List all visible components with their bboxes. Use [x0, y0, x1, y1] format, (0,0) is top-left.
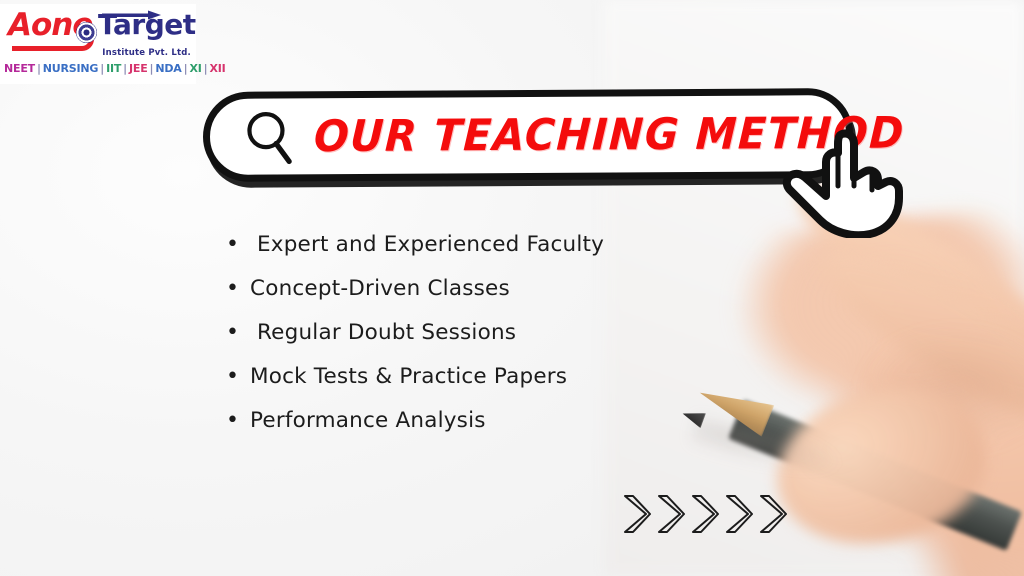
target-bullseye-icon: [76, 22, 97, 43]
photo-finger-middle: [802, 225, 1024, 453]
logo-course-neet: NEET: [4, 62, 35, 75]
list-item: •Regular Doubt Sessions: [226, 320, 696, 346]
logo-course-nursing: NURSING: [43, 62, 98, 75]
bullet-marker-icon: •: [226, 276, 250, 302]
logo-course-separator: |: [98, 62, 106, 75]
logo-course-nda: NDA: [155, 62, 181, 75]
pointing-hand-cursor-icon[interactable]: [782, 128, 910, 238]
chevron-right-icon: [722, 492, 754, 536]
bullet-marker-icon: •: [226, 320, 250, 346]
photo-pencil-shadow: [688, 414, 842, 483]
logo-subtitle: Institute Pvt. Ltd.: [102, 48, 191, 58]
list-item: •Mock Tests & Practice Papers: [226, 364, 696, 390]
list-item-label: Expert and Experienced Faculty: [250, 232, 604, 258]
logo-text-target: Target: [98, 11, 196, 39]
logo-course-jee: JEE: [129, 62, 148, 75]
logo-course-xi: XI: [189, 62, 201, 75]
bullet-marker-icon: •: [226, 364, 250, 390]
list-item-label: Regular Doubt Sessions: [250, 320, 516, 346]
list-item-label: Concept-Driven Classes: [250, 276, 510, 302]
chevron-right-icon: [620, 492, 652, 536]
photo-pencil-wood-cone: [693, 378, 774, 437]
logo-course-separator: |: [35, 62, 43, 75]
list-item: •Performance Analysis: [226, 408, 696, 434]
photo-thumb: [758, 363, 1004, 571]
bullet-marker-icon: •: [226, 408, 250, 434]
magnifier-icon: [244, 108, 296, 164]
photo-knuckle-shadow: [860, 330, 1024, 450]
teaching-method-list: •Expert and Experienced Faculty•Concept-…: [226, 232, 696, 452]
list-item: •Expert and Experienced Faculty: [226, 232, 696, 258]
logo-course-xii: XII: [209, 62, 225, 75]
logo-course-list: NEET|NURSING|IIT|JEE|NDA|XI|XII: [4, 62, 192, 75]
bullet-marker-icon: •: [226, 232, 250, 258]
logo-course-separator: |: [121, 62, 129, 75]
chevron-right-icon: [756, 492, 788, 536]
list-item: •Concept-Driven Classes: [226, 276, 696, 302]
search-bar-banner[interactable]: OUR TEACHING METHOD: [203, 88, 854, 182]
brand-logo[interactable]: Aone Target Institute Pvt. Ltd. NEET|NUR…: [0, 4, 196, 84]
chevron-right-icon: [654, 492, 686, 536]
slide-canvas: Aone Target Institute Pvt. Ltd. NEET|NUR…: [0, 0, 1024, 576]
chevron-arrow-group: [620, 492, 788, 536]
chevron-right-icon: [688, 492, 720, 536]
list-item-label: Performance Analysis: [250, 408, 486, 434]
logo-wordmark: Aone Target: [6, 8, 190, 52]
logo-course-iit: IIT: [106, 62, 121, 75]
list-item-label: Mock Tests & Practice Papers: [250, 364, 567, 390]
